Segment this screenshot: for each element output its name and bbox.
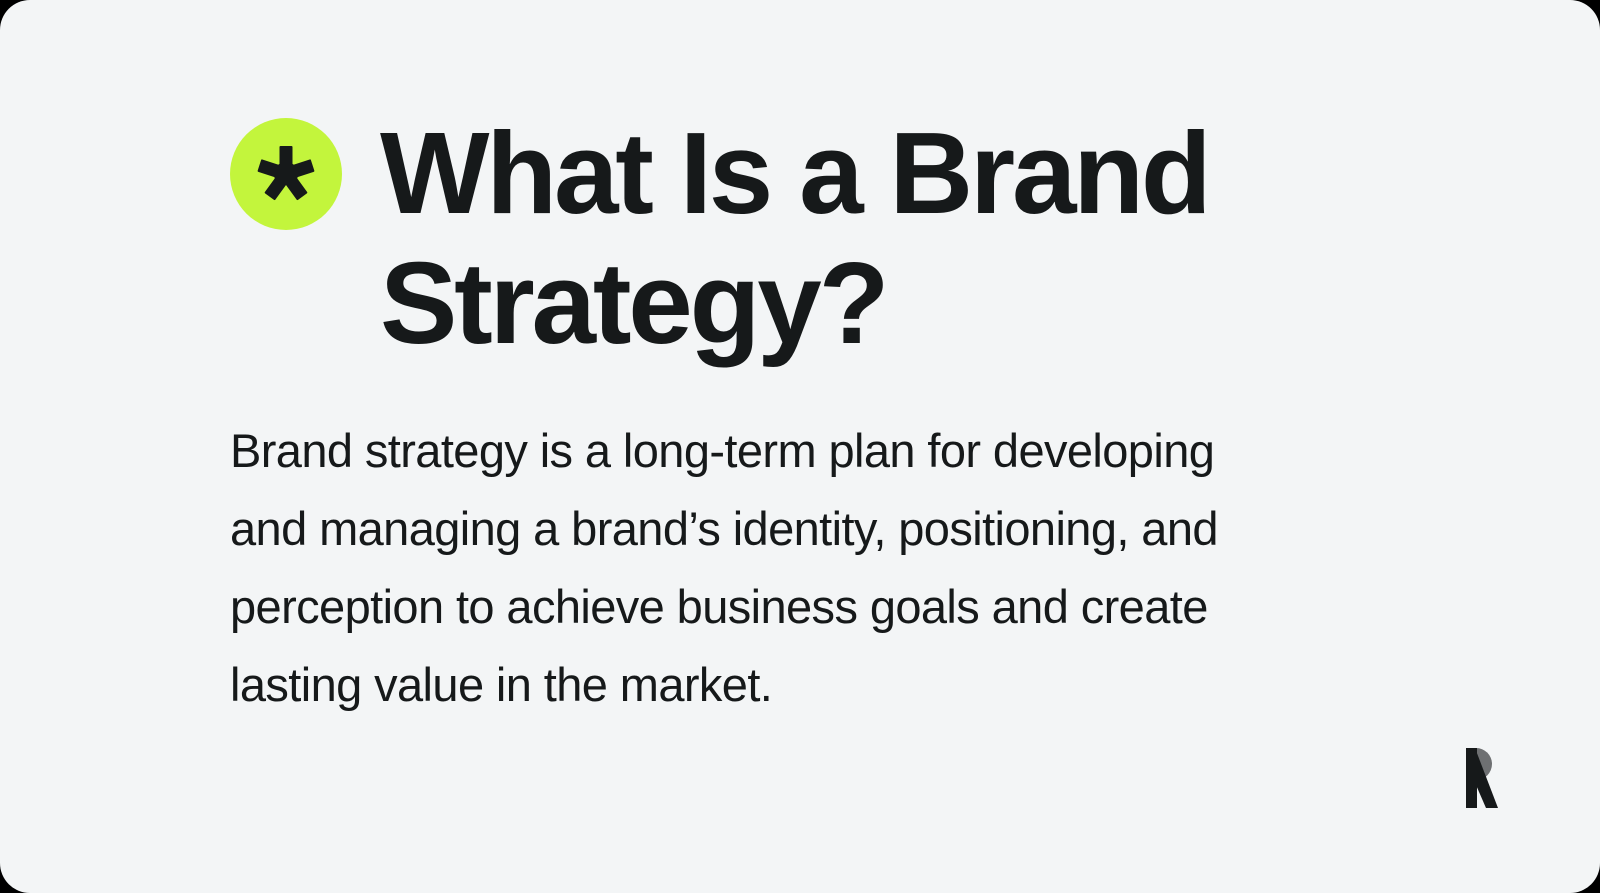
- body-line: perception to achieve business goals and…: [230, 568, 1350, 646]
- r-logo-mark: [1452, 748, 1498, 808]
- header-row: What Is a Brand Strategy?: [230, 108, 1410, 368]
- body-line: and managing a brand’s identity, positio…: [230, 490, 1350, 568]
- body-line: lasting value in the market.: [230, 646, 1350, 724]
- card-canvas: What Is a Brand Strategy? Brand strategy…: [0, 0, 1600, 893]
- body-paragraph: Brand strategy is a long-term plan for d…: [230, 412, 1350, 724]
- asterisk-icon: [230, 118, 342, 230]
- asterisk-badge: [230, 118, 342, 230]
- body-line: Brand strategy is a long-term plan for d…: [230, 412, 1350, 490]
- page-title: What Is a Brand Strategy?: [230, 108, 1240, 368]
- r-logo-icon: [1452, 748, 1498, 808]
